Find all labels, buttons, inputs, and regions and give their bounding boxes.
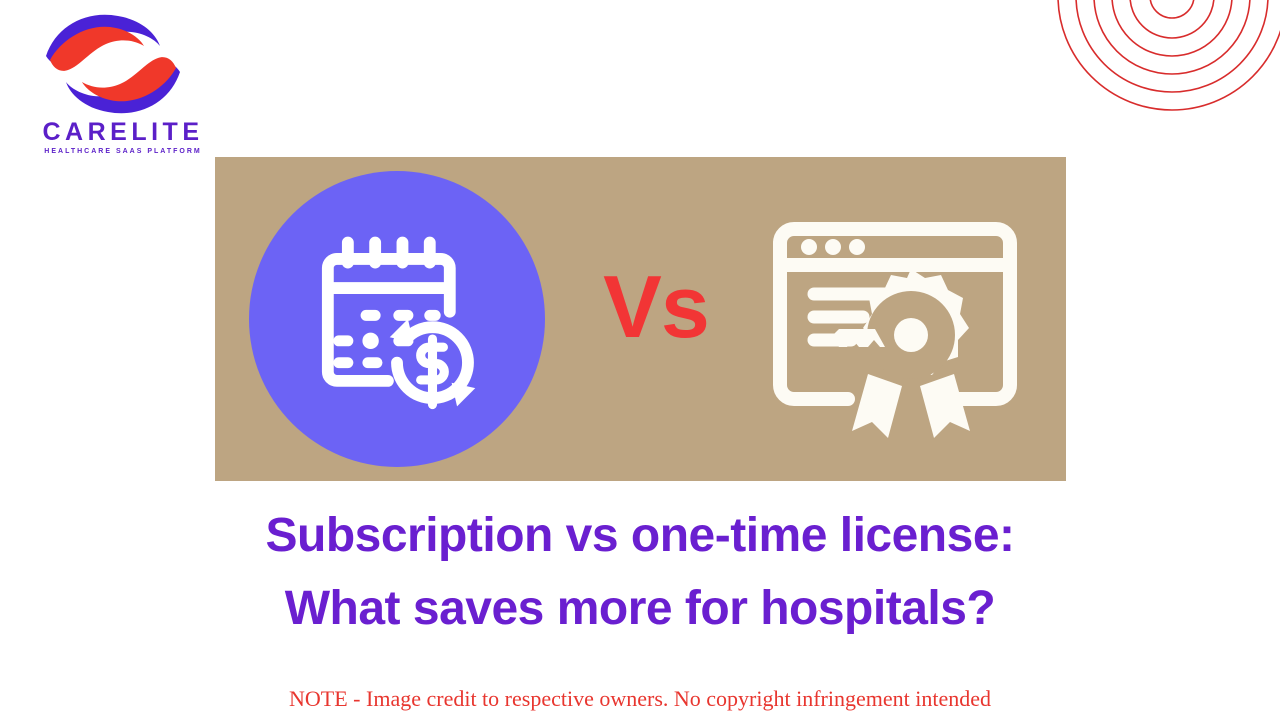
- hero-banner: Vs: [215, 157, 1066, 481]
- brand-logo: CARELITE HEALTHCARE SAAS PLATFORM: [28, 12, 218, 162]
- vs-label: Vs: [591, 263, 721, 351]
- calendar-recurring-dollar-icon: [306, 228, 488, 410]
- brand-wordmark: CARELITE: [28, 120, 218, 145]
- brand-tagline: HEALTHCARE SAAS PLATFORM: [28, 148, 218, 155]
- page-title-line-1: Subscription vs one-time license:: [0, 500, 1280, 573]
- subscription-badge: [249, 171, 545, 467]
- credit-note: NOTE - Image credit to respective owners…: [0, 686, 1280, 712]
- concentric-rings-decoration: [1020, 0, 1280, 125]
- browser-license-key-certificate-icon: [763, 189, 1027, 451]
- page-title: Subscription vs one-time license: What s…: [0, 500, 1280, 646]
- page-title-line-2: What saves more for hospitals?: [0, 573, 1280, 646]
- carelite-c-swoosh-logo: [38, 12, 188, 116]
